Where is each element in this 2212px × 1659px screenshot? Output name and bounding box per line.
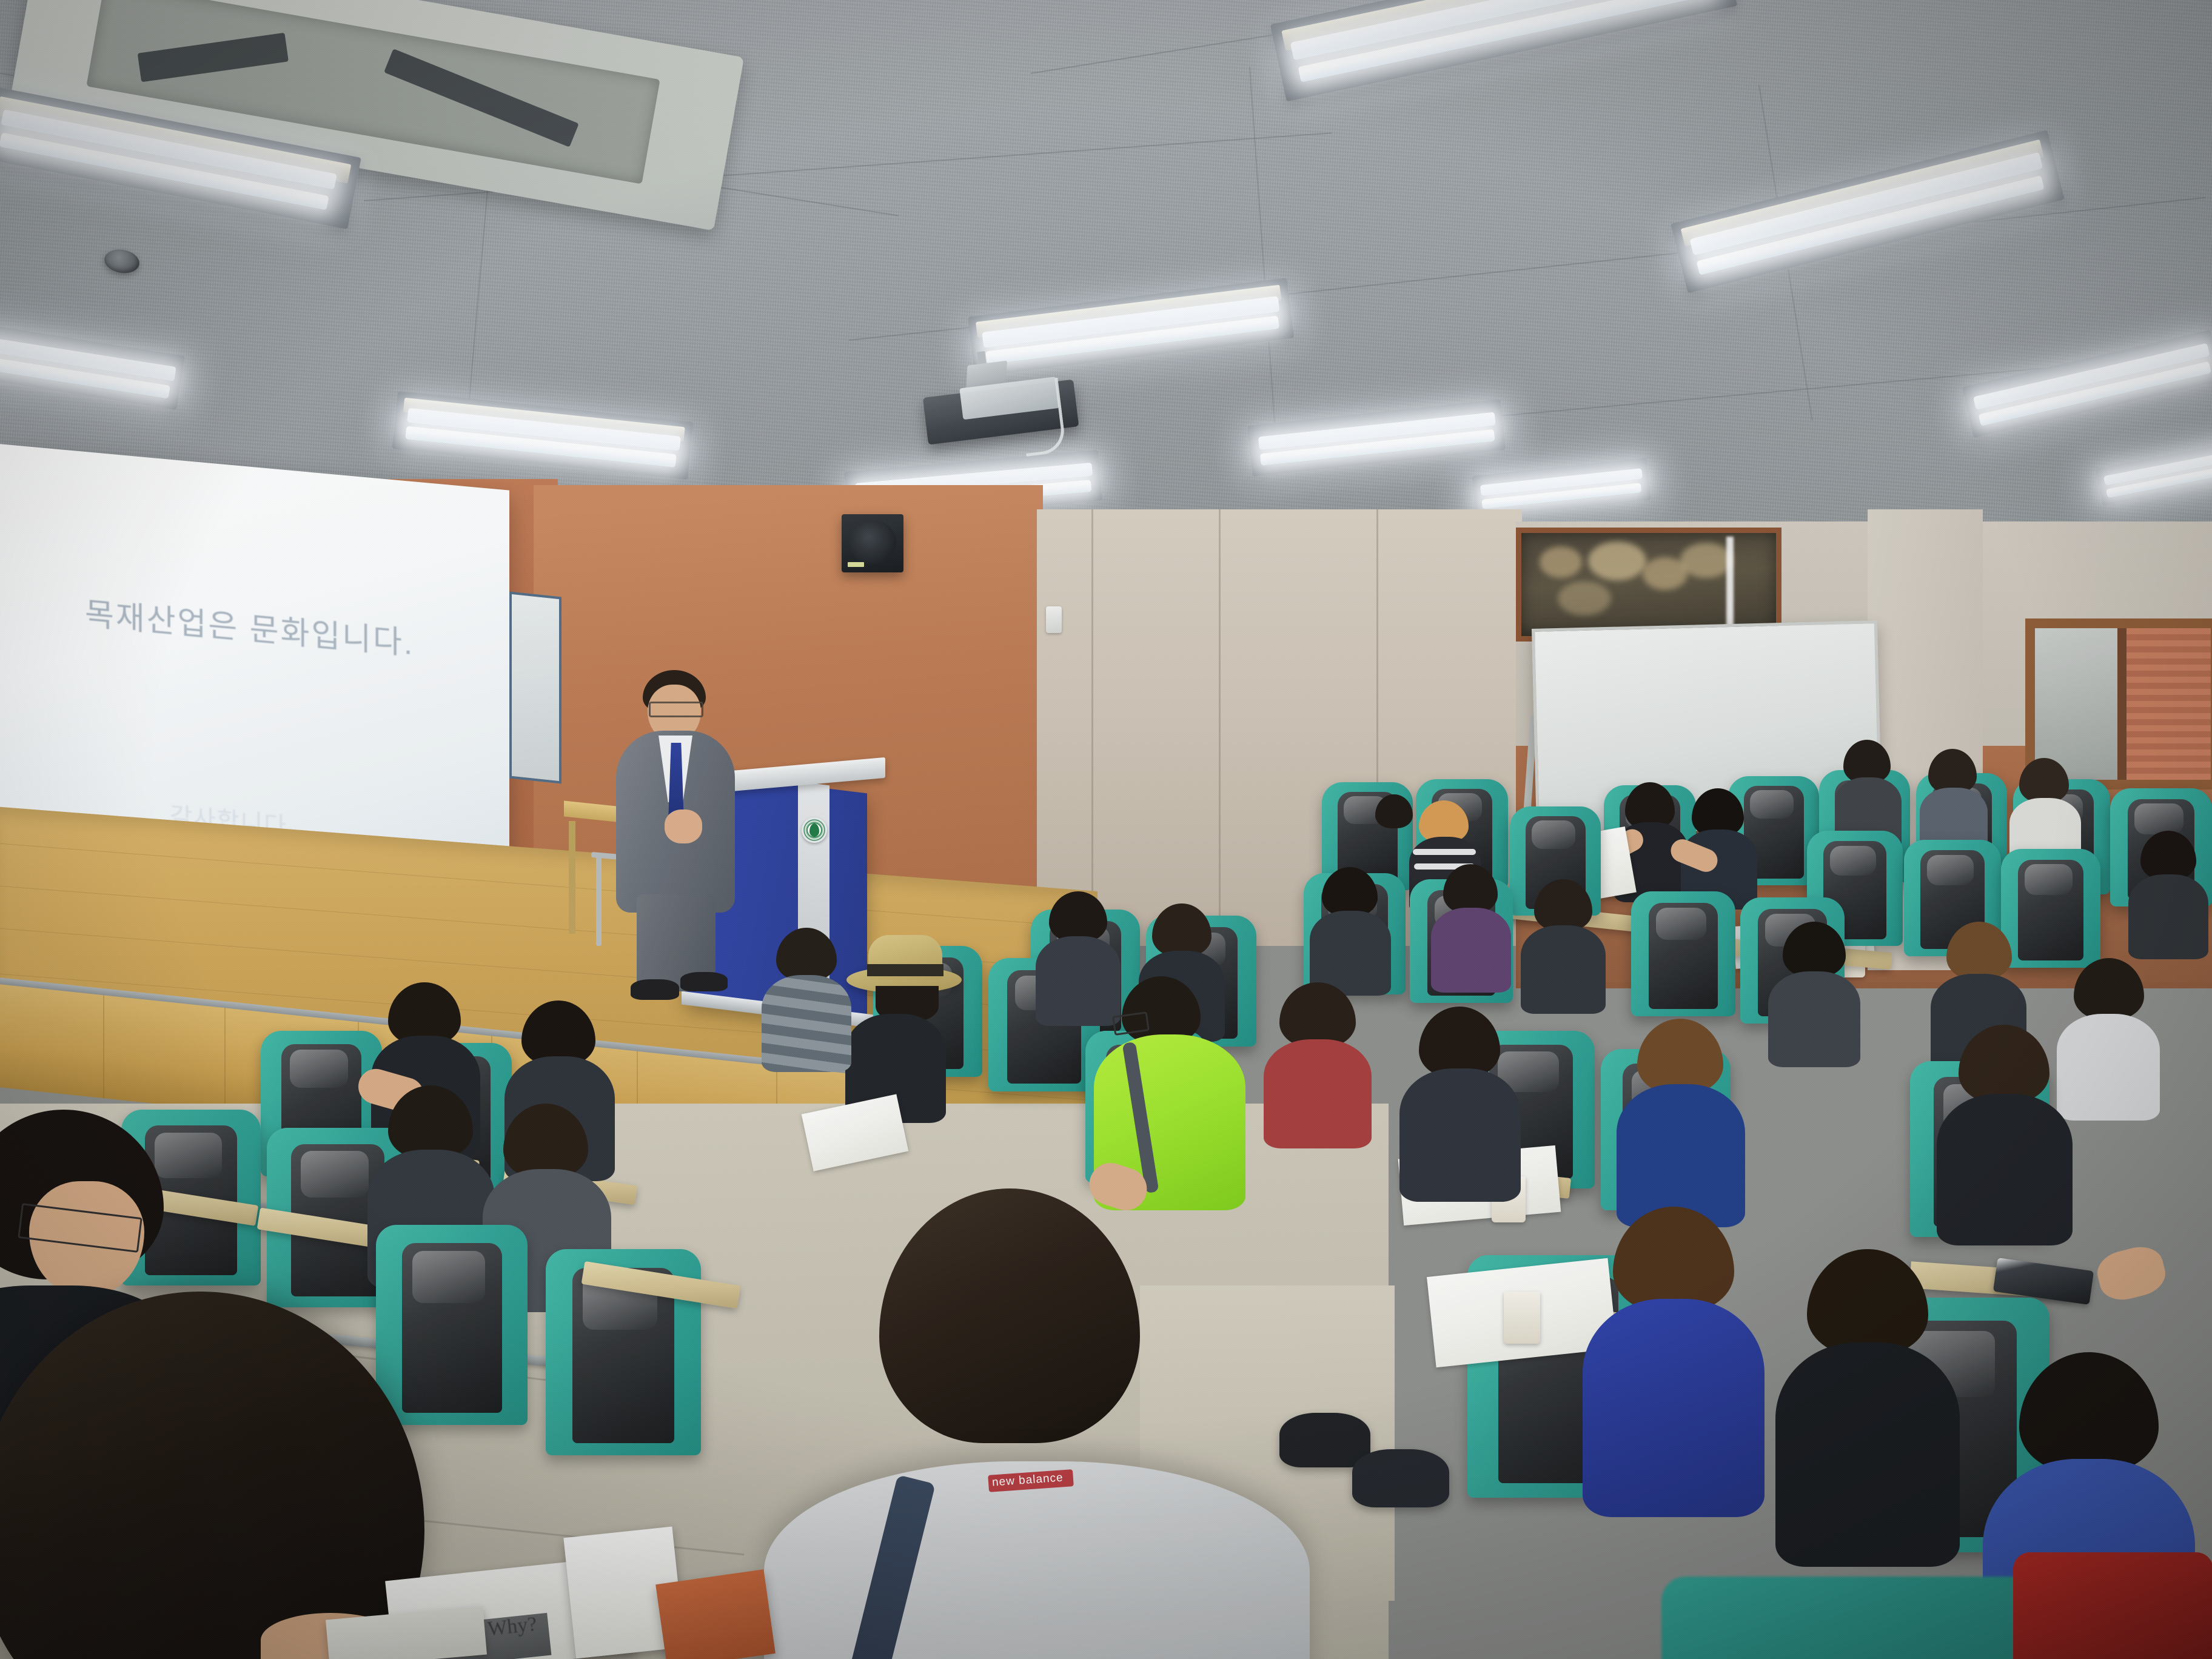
seat[interactable] [2001, 849, 2100, 968]
presenter-shoe [631, 979, 679, 1000]
presenter-hands [665, 809, 702, 843]
side-notice-board [509, 591, 561, 783]
shoe [1352, 1449, 1449, 1507]
window-glare [1726, 537, 1734, 628]
drink-cup[interactable] [1504, 1292, 1540, 1344]
slide-headline: 목재산업은 문화입니다. [85, 588, 461, 668]
seat[interactable] [1631, 891, 1735, 1016]
presenter-shoe [680, 972, 728, 991]
t-shirt [764, 1461, 1310, 1659]
window-pane-left [2035, 628, 2119, 780]
light-switch[interactable] [1046, 606, 1062, 633]
wall-speaker-icon [842, 514, 903, 572]
stripe-detail [1413, 849, 1476, 855]
shoe [1279, 1413, 1370, 1467]
lecture-hall-photo: 목재산업은 문화입니다. 감사합니다. [0, 0, 2212, 1659]
hat-band [867, 964, 943, 976]
podium-emblem-icon [802, 817, 827, 843]
red-garment [2013, 1552, 2212, 1659]
seat[interactable] [376, 1225, 528, 1425]
orange-folder[interactable] [655, 1569, 776, 1659]
eyeglasses-icon [649, 702, 703, 717]
hand [2093, 1242, 2170, 1305]
window-pane-right [2127, 628, 2211, 780]
window-mullion [2117, 628, 2127, 780]
presenter [612, 670, 746, 985]
